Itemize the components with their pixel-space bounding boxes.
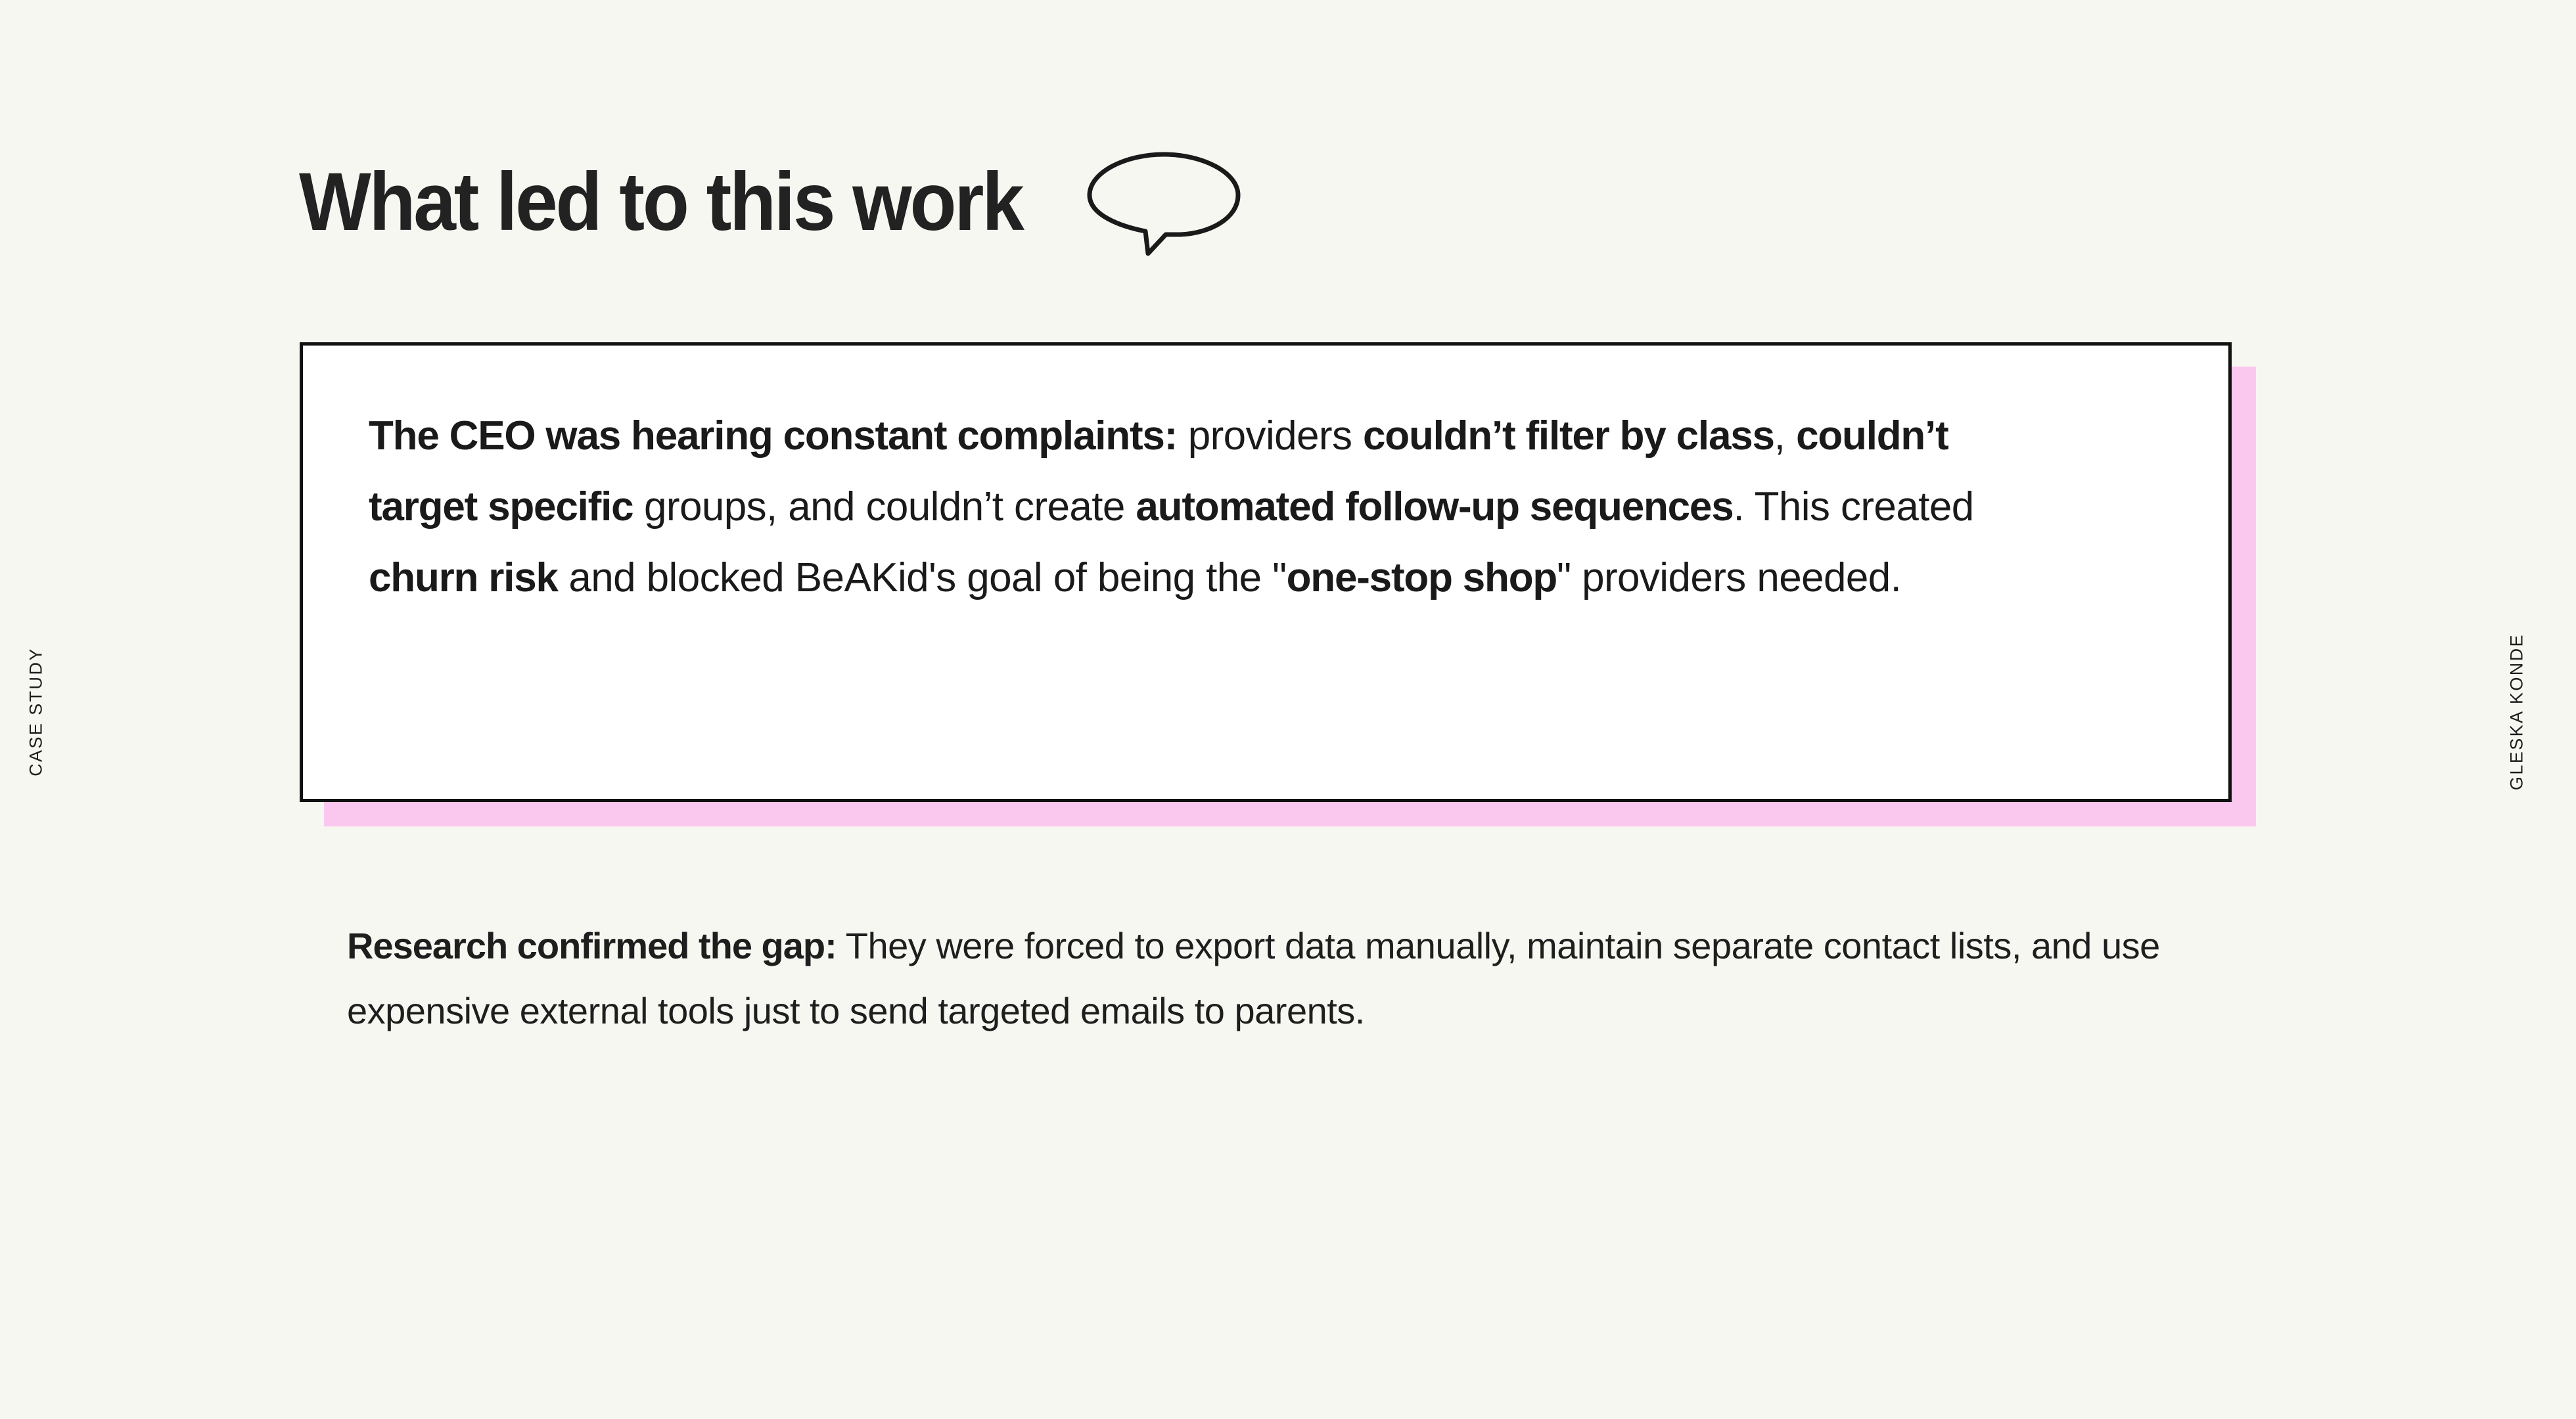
side-label-case-study: CASE STUDY [26, 633, 47, 791]
research-paragraph: Research confirmed the gap: They were fo… [347, 913, 2200, 1043]
card-panel: The CEO was hearing constant complaints:… [300, 342, 2232, 802]
quote-card-text: The CEO was hearing constant complaints:… [369, 401, 2031, 614]
speech-bubble-icon [1082, 148, 1246, 263]
heading-row: What led to this work [299, 141, 1246, 263]
page-title: What led to this work [299, 161, 1023, 243]
side-label-gleska-konde: GLESKA KONDE [2507, 633, 2527, 791]
slide-root: CASE STUDY GLESKA KONDE What led to this… [0, 0, 2576, 1419]
quote-card: The CEO was hearing constant complaints:… [300, 342, 2232, 802]
